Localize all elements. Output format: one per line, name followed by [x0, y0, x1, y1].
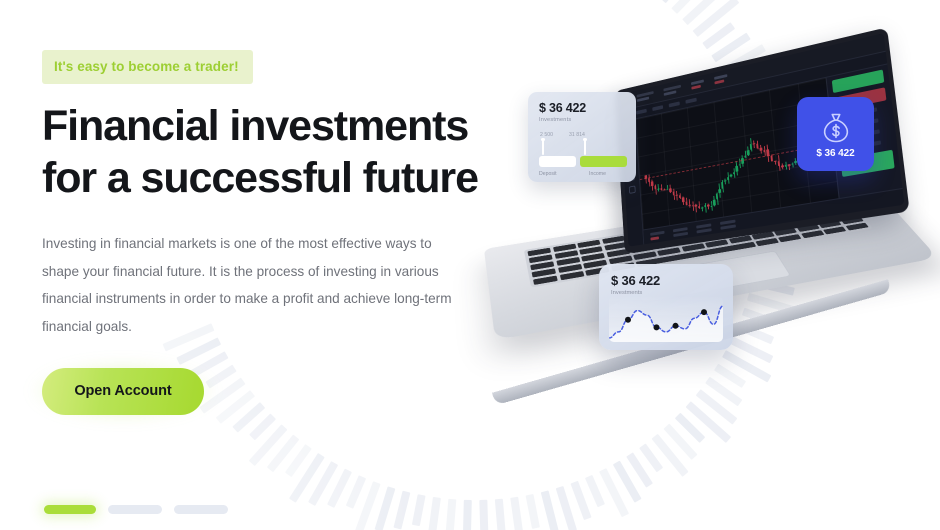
ticker-item	[663, 85, 681, 96]
carousel-pagination[interactable]	[44, 505, 228, 514]
keyboard-key	[801, 230, 825, 238]
investments-amount: $ 36 422	[539, 101, 627, 115]
burst-dash	[652, 434, 689, 477]
burst-dash	[675, 413, 706, 443]
pagination-dot-3[interactable]	[174, 505, 228, 514]
burst-dash	[412, 494, 426, 526]
burst-dash	[249, 413, 276, 440]
keyboard-key	[845, 223, 868, 231]
deposit-bar	[539, 156, 576, 167]
page-title: Financial investments for a successful f…	[42, 101, 482, 204]
headline-line-1: Financial investments	[42, 102, 468, 150]
candle-body	[666, 189, 668, 190]
burst-dash	[510, 497, 524, 530]
burst-dash	[556, 486, 577, 530]
candle-body	[715, 194, 718, 200]
burst-dash	[375, 486, 396, 530]
income-value: 31 814	[569, 132, 585, 138]
burst-dash	[686, 401, 732, 443]
candle-body	[660, 188, 662, 190]
money-bag-amount: $ 36 422	[816, 148, 854, 159]
candle-body	[698, 206, 700, 209]
ticker-item	[714, 74, 728, 84]
ticker-item	[637, 91, 654, 102]
burst-dash	[426, 497, 441, 530]
candle-body	[721, 181, 724, 188]
burst-dash	[541, 490, 562, 530]
burst-dash	[463, 500, 472, 530]
hero-description: Investing in financial markets is one of…	[42, 230, 462, 340]
candle-body	[654, 185, 656, 190]
cta-wrapper: Open Account	[42, 368, 204, 415]
open-account-button[interactable]: Open Account	[42, 368, 204, 415]
candle-body	[777, 161, 780, 166]
burst-dash	[495, 499, 507, 530]
candle-body	[735, 166, 738, 172]
burst-dash	[696, 389, 738, 424]
ticker-item	[691, 79, 704, 89]
burst-dash	[693, 0, 740, 37]
burst-dash	[327, 469, 352, 508]
investments-card: $ 36 422 Investments 2 500 31 814 Deposi…	[528, 92, 636, 182]
toolbar-chip	[636, 109, 647, 115]
status-cell	[650, 230, 665, 240]
candle-body	[648, 178, 650, 182]
burst-dash	[445, 499, 456, 530]
burst-dash	[479, 500, 489, 530]
investments-chart-card: $ 36 422 Investments	[599, 264, 733, 350]
income-bar	[580, 156, 627, 167]
chart-data-point	[701, 309, 707, 315]
burst-dash	[570, 481, 591, 520]
status-cell	[720, 219, 736, 229]
candle-body	[672, 192, 674, 196]
stem-dot	[541, 138, 545, 142]
income-legend: Income	[589, 171, 606, 177]
candle-body	[770, 156, 773, 162]
burst-dash	[289, 453, 325, 503]
candle-body	[651, 181, 653, 186]
status-cell	[673, 227, 688, 237]
burst-dash	[682, 0, 722, 25]
burst-dash	[355, 481, 380, 530]
stem-dot	[583, 138, 587, 142]
stem-line	[584, 139, 586, 155]
burst-dash	[639, 443, 663, 472]
hero-section: $ 36 422 Investments 2 500 31 814 Deposi…	[0, 0, 940, 530]
burst-dash	[671, 0, 705, 14]
burst-dash	[663, 423, 697, 459]
money-bag-card: $ 36 422	[797, 97, 874, 171]
candle-body	[756, 143, 759, 148]
hero-badge: It's easy to become a trader!	[42, 50, 253, 84]
keyboard-key	[823, 226, 846, 234]
candle-body	[713, 200, 716, 206]
candle-body	[747, 150, 750, 156]
toolbar-chip	[652, 105, 663, 111]
burst-dash	[285, 444, 312, 477]
investments-label: Investments	[539, 117, 627, 123]
burst-dash	[249, 424, 288, 466]
candle-body	[669, 188, 671, 192]
stem-line	[542, 139, 544, 155]
money-bag-icon	[818, 110, 854, 146]
mini-chart-svg	[609, 296, 723, 342]
investments-bars	[539, 156, 627, 167]
chart-data-point	[673, 323, 679, 329]
burst-dash	[393, 491, 410, 530]
pagination-dot-2[interactable]	[108, 505, 162, 514]
draw-tool-icon	[629, 185, 636, 193]
toolbar-chip	[669, 101, 680, 107]
candle-body	[682, 198, 685, 203]
candle-body	[718, 189, 721, 194]
investments-legend: Deposit Income	[539, 171, 627, 177]
burst-dash	[585, 475, 605, 508]
deposit-legend: Deposit	[539, 171, 579, 177]
mini-line-chart	[609, 296, 723, 342]
burst-dash	[267, 434, 300, 472]
toolbar-chip	[685, 98, 696, 104]
burst-dash	[308, 461, 338, 506]
burst-dash	[626, 452, 653, 487]
keyboard-key	[778, 234, 802, 242]
hero-text-column: It's easy to become a trader! Financial …	[42, 50, 502, 415]
burst-dash	[526, 494, 540, 529]
candle-body	[685, 202, 687, 206]
chart-card-amount: $ 36 422	[611, 273, 733, 288]
pagination-dot-1[interactable]	[44, 505, 96, 514]
burst-dash	[660, 0, 688, 3]
burst-dash	[346, 475, 366, 508]
chart-data-point	[625, 317, 631, 323]
investments-stems	[539, 139, 627, 156]
burst-dash	[599, 468, 629, 517]
status-cell	[696, 223, 712, 233]
headline-line-2: for a successful future	[42, 154, 478, 202]
chart-data-point	[654, 324, 660, 330]
burst-dash	[613, 461, 642, 503]
